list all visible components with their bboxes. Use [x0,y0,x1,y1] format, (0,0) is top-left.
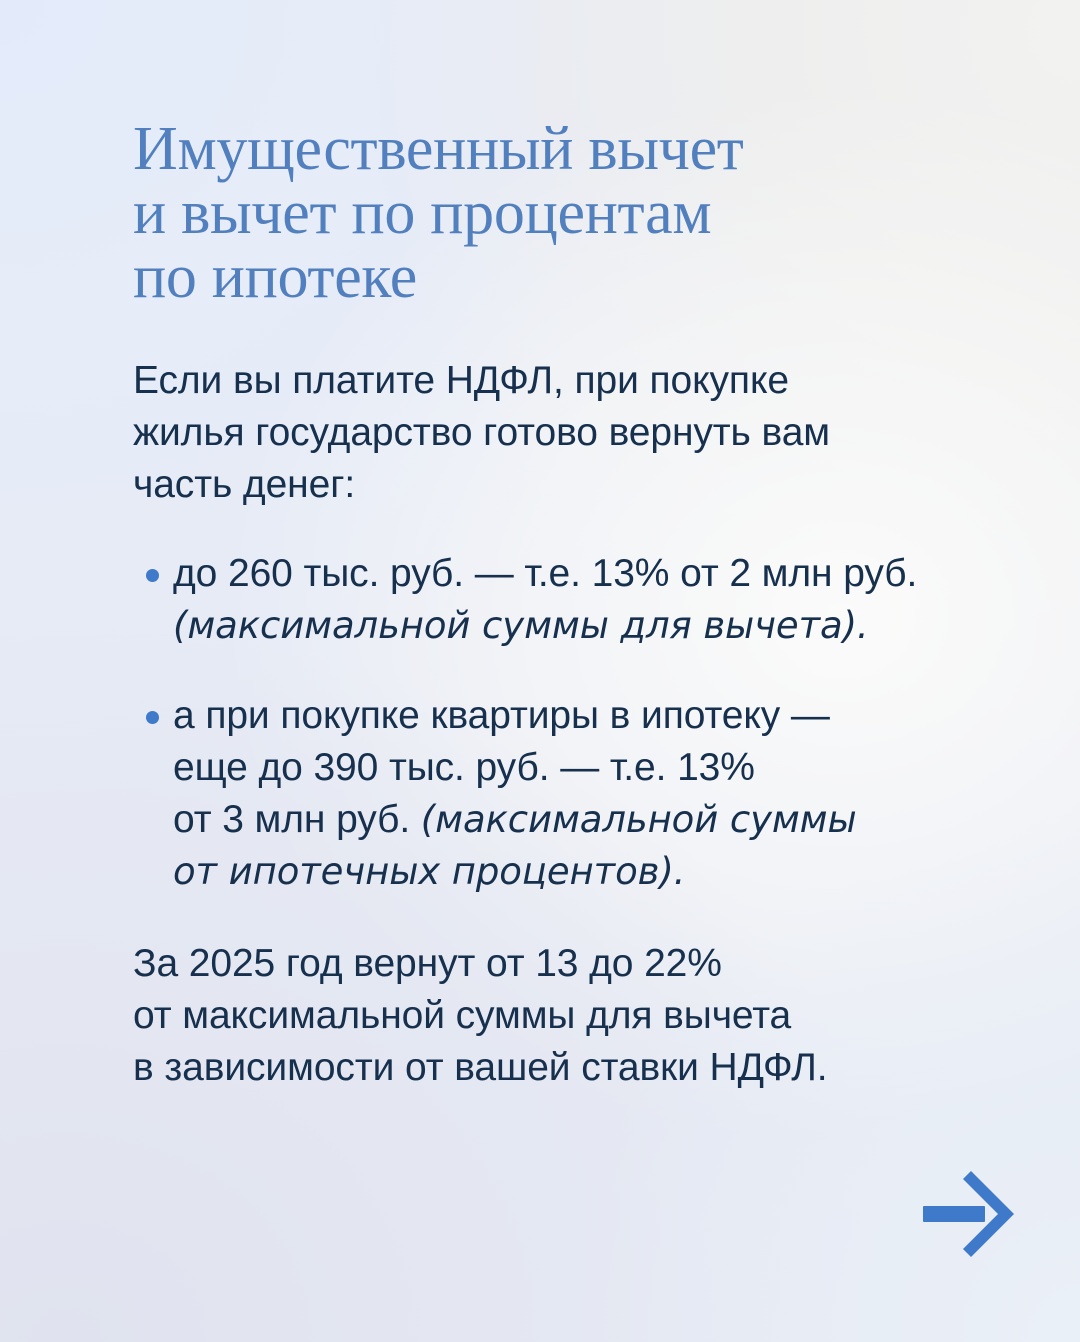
intro-line: жилья государство готово вернуть вам [133,407,1013,459]
page-title: Имущественный вычет и вычет по процентам… [133,117,993,309]
list-item: а при покупке квартиры в ипотеку — еще д… [133,690,1033,898]
list-item: до 260 тыс. руб. — т.е. 13% от 2 млн руб… [133,548,1033,652]
outro-paragraph: За 2025 год вернут от 13 до 22% от макси… [133,938,1033,1094]
bullet-line: от 3 млн руб. (максимальной суммы [173,794,1033,846]
page-title-line: и вычет по процентам [133,181,993,245]
page-title-line: по ипотеке [133,245,993,309]
outro-line: от максимальной суммы для вычета [133,990,1033,1042]
bullet-dot-icon [146,569,159,582]
bullet-line-italic: (максимальной суммы [421,798,857,841]
bullet-line: от ипотечных процентов). [173,846,1033,898]
bullet-dot-icon [146,711,159,724]
bullet-line-italic: от ипотечных процентов). [173,850,685,893]
page-title-line: Имущественный вычет [133,117,993,181]
bullet-line: еще до 390 тыс. руб. — т.е. 13% [173,742,1033,794]
bullet-line-normal: от 3 млн руб. [173,798,421,841]
intro-line: Если вы платите НДФЛ, при покупке [133,355,1013,407]
deduction-bullet-list: до 260 тыс. руб. — т.е. 13% от 2 млн руб… [133,548,1033,898]
bullet-line-italic: (максимальной суммы для вычета). [173,604,869,647]
outro-line: в зависимости от вашей ставки НДФЛ. [133,1042,1033,1094]
arrow-right-icon [921,1168,1021,1260]
next-slide-button[interactable] [921,1168,1021,1260]
bullet-line: до 260 тыс. руб. — т.е. 13% от 2 млн руб… [173,548,1033,600]
bullet-line: а при покупке квартиры в ипотеку — [173,690,1033,742]
intro-line: часть денег: [133,459,1013,511]
slide-canvas: Имущественный вычет и вычет по процентам… [0,0,1080,1342]
outro-line: За 2025 год вернут от 13 до 22% [133,938,1033,990]
bullet-line: (максимальной суммы для вычета). [173,600,1033,652]
intro-paragraph: Если вы платите НДФЛ, при покупке жилья … [133,355,1013,511]
